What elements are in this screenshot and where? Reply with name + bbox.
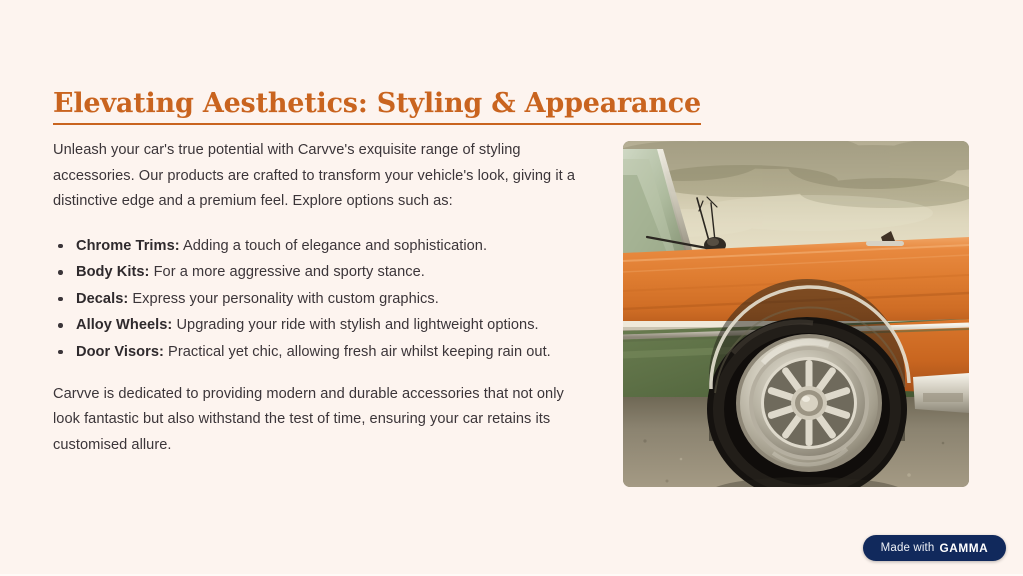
list-item-description: Express your personality with custom gra… [132, 291, 438, 307]
car-photo-illustration [623, 141, 969, 487]
list-item: Chrome Trims: Adding a touch of elegance… [53, 236, 588, 256]
list-item-term: Door Visors: [76, 344, 164, 360]
slide-canvas: Elevating Aesthetics: Styling & Appearan… [0, 0, 1023, 576]
list-item-term: Chrome Trims: [76, 238, 180, 254]
list-item-term: Decals: [76, 291, 128, 307]
list-item-description: For a more aggressive and sporty stance. [154, 264, 425, 280]
intro-paragraph: Unleash your car's true potential with C… [53, 138, 586, 215]
list-item-description: Practical yet chic, allowing fresh air w… [168, 344, 551, 360]
list-item: Door Visors: Practical yet chic, allowin… [53, 342, 588, 362]
outro-paragraph: Carvve is dedicated to providing modern … [53, 382, 573, 459]
list-item-term: Body Kits: [76, 264, 149, 280]
list-item: Decals: Express your personality with cu… [53, 289, 588, 309]
list-item-description: Adding a touch of elegance and sophistic… [183, 238, 487, 254]
list-item-description: Upgrading your ride with stylish and lig… [176, 317, 538, 333]
car-photo [623, 141, 969, 487]
page-title: Elevating Aesthetics: Styling & Appearan… [53, 88, 701, 125]
badge-prefix-label: Made with [881, 542, 935, 554]
content-column: Unleash your car's true potential with C… [53, 138, 588, 458]
made-with-gamma-badge[interactable]: Made with GAMMA [863, 535, 1006, 561]
list-item-term: Alloy Wheels: [76, 317, 172, 333]
list-item: Body Kits: For a more aggressive and spo… [53, 262, 588, 282]
feature-list: Chrome Trims: Adding a touch of elegance… [53, 236, 588, 362]
badge-brand-label: GAMMA [939, 541, 988, 555]
list-item: Alloy Wheels: Upgrading your ride with s… [53, 315, 588, 335]
